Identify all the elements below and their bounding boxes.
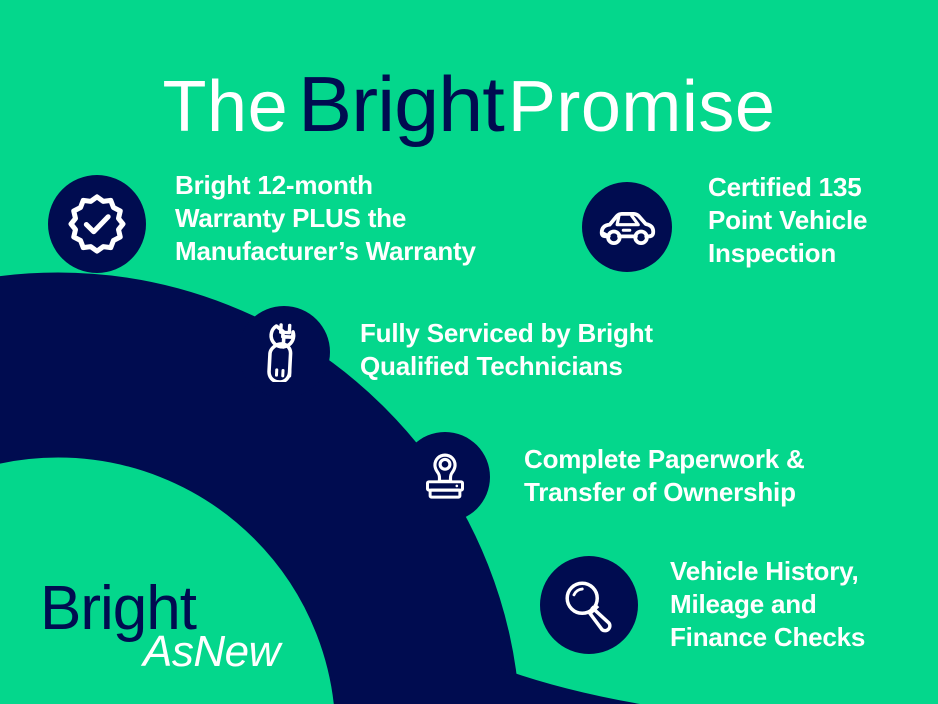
feature-item-serviced: Fully Serviced by Bright Qualified Techn… [238,306,653,398]
verified-badge-icon [66,193,128,255]
verified-badge-icon-circle [48,175,146,273]
feature-label-inspection: Certified 135 Point Vehicle Inspection [708,171,867,270]
magnifying-glass-icon-circle [540,556,638,654]
headline-brand-logotype: Bright [298,65,504,143]
rubber-stamp-icon [417,449,473,505]
page-title: TheBrightPromise [0,65,938,143]
feature-label-warranty: Bright 12-month Warranty PLUS the Manufa… [175,169,476,268]
promise-infographic: TheBrightPromise Bright 12-month Warrant… [0,0,938,704]
headline-suffix: Promise [508,71,776,143]
brand-logo: Bright AsNew [40,578,300,690]
feature-label-paperwork: Complete Paperwork & Transfer of Ownersh… [524,443,805,509]
feature-item-history: Vehicle History, Mileage and Finance Che… [540,556,865,654]
car-icon [597,197,657,257]
brand-logo-secondary: AsNew [143,630,280,674]
magnifying-glass-icon [558,574,620,636]
feature-label-history: Vehicle History, Mileage and Finance Che… [670,555,865,654]
car-icon-circle [582,182,672,272]
rubber-stamp-icon-circle [400,432,490,522]
feature-item-warranty: Bright 12-month Warranty PLUS the Manufa… [48,175,476,273]
hand-wrench-icon-circle [238,306,330,398]
hand-wrench-icon [254,322,314,382]
feature-item-paperwork: Complete Paperwork & Transfer of Ownersh… [400,432,805,522]
feature-label-serviced: Fully Serviced by Bright Qualified Techn… [360,317,653,383]
ring-tail-wedge [500,668,640,704]
headline-prefix: The [163,71,289,143]
feature-item-inspection: Certified 135 Point Vehicle Inspection [582,182,867,272]
